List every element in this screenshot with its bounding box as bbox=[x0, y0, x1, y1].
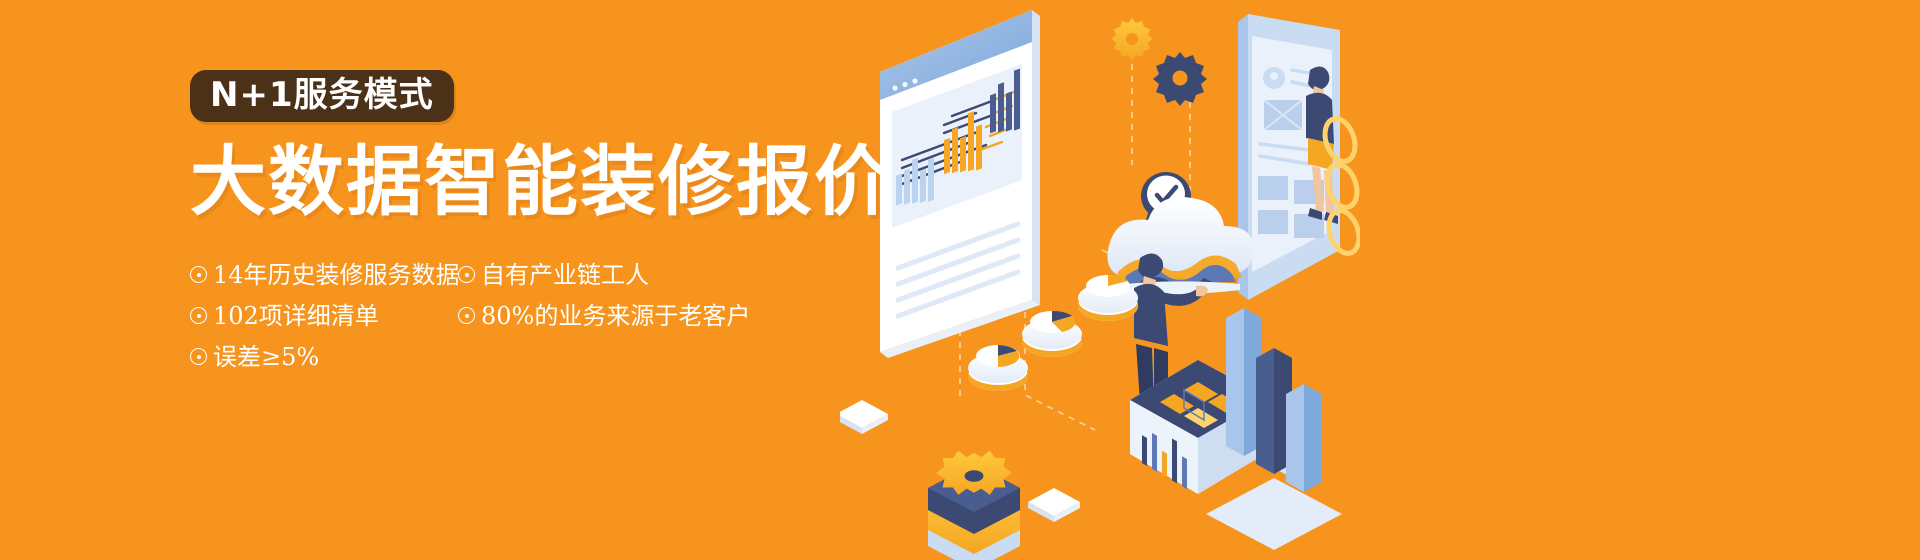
floating-tile bbox=[1028, 488, 1080, 522]
list-item-label: 自有产业链工人 bbox=[481, 263, 649, 287]
list-item: 自有产业链工人 bbox=[458, 254, 718, 295]
feature-list: 14年历史装修服务数据 102项详细清单 误差≥5% 自有产业链工人 80%的业… bbox=[190, 254, 910, 377]
list-item: 80%的业务来源于老客户 bbox=[458, 295, 718, 336]
dashboard-window bbox=[880, 10, 1040, 358]
bullet-dot-icon bbox=[190, 348, 207, 365]
gear-yellow bbox=[1111, 18, 1153, 60]
bullet-dot-icon bbox=[190, 307, 207, 324]
list-item: 误差≥5% bbox=[190, 336, 448, 377]
promo-banner: N+1服务模式 大数据智能装修报价 14年历史装修服务数据 102项详细清单 误… bbox=[0, 0, 1920, 560]
bullet-dot-icon bbox=[458, 266, 475, 283]
list-item-label: 102项详细清单 bbox=[213, 304, 379, 328]
list-item: 14年历史装修服务数据 bbox=[190, 254, 448, 295]
text-block: N+1服务模式 大数据智能装修报价 14年历史装修服务数据 102项详细清单 误… bbox=[190, 70, 910, 377]
isometric-big-data-illustration bbox=[840, 0, 1360, 560]
list-item-label: 误差≥5% bbox=[213, 345, 319, 369]
service-model-badge: N+1服务模式 bbox=[190, 70, 454, 122]
page-title: 大数据智能装修报价 bbox=[190, 144, 910, 220]
bullet-dot-icon bbox=[458, 307, 475, 324]
list-item-label: 14年历史装修服务数据 bbox=[213, 263, 460, 287]
bar-chart-columns bbox=[1206, 308, 1342, 550]
floating-tile bbox=[840, 400, 888, 434]
list-item-label: 80%的业务来源于老客户 bbox=[481, 304, 750, 328]
list-item: 102项详细清单 bbox=[190, 295, 448, 336]
cloud bbox=[1107, 197, 1254, 295]
bullet-dot-icon bbox=[190, 266, 207, 283]
gear-hexagon-stack bbox=[928, 451, 1020, 560]
gear-navy bbox=[1153, 52, 1207, 106]
